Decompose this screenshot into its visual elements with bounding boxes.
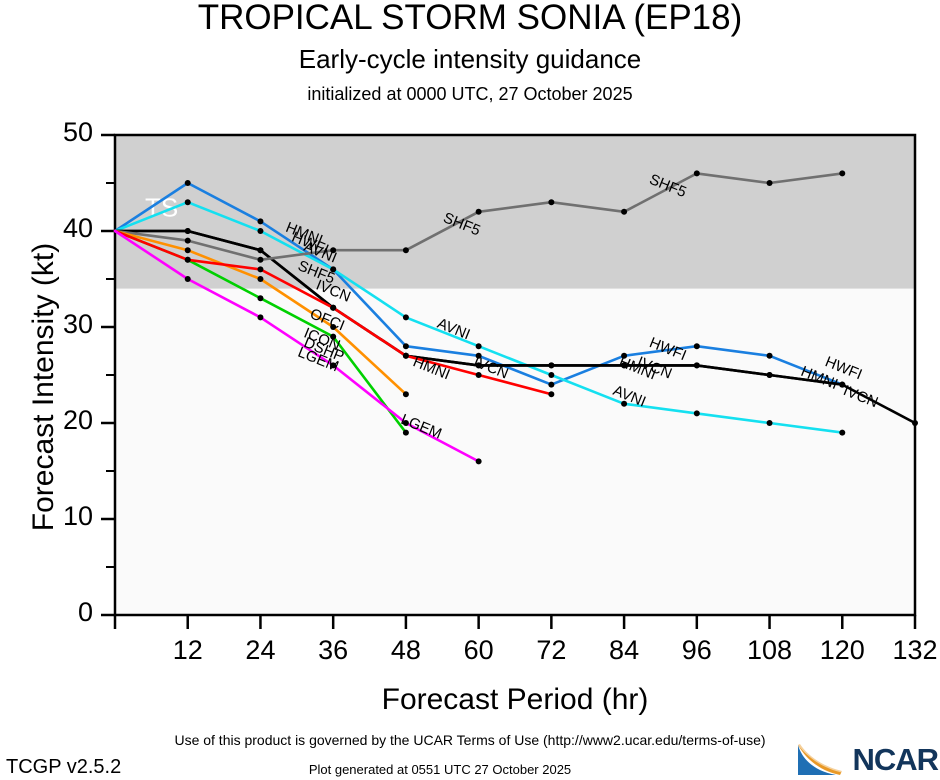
data-point (694, 362, 700, 368)
data-point (330, 305, 336, 311)
data-point (548, 382, 554, 388)
data-point (767, 372, 773, 378)
data-point (839, 430, 845, 436)
data-point (257, 218, 263, 224)
data-point (767, 180, 773, 186)
data-point (548, 372, 554, 378)
data-point (185, 238, 191, 244)
ncar-logo-text: NCAR (852, 744, 938, 775)
data-point (185, 199, 191, 205)
data-point (403, 343, 409, 349)
data-point (257, 247, 263, 253)
data-point (185, 247, 191, 253)
data-point (548, 199, 554, 205)
data-point (694, 170, 700, 176)
data-point (257, 276, 263, 282)
data-point (257, 228, 263, 234)
data-point (767, 420, 773, 426)
data-point (912, 420, 918, 426)
chart-canvas: TSHWFIHWFIHWFIAVNIAVNIAVNIIVCNIVCNIVCNIV… (0, 0, 940, 780)
data-point (257, 314, 263, 320)
data-point (257, 295, 263, 301)
data-point (476, 343, 482, 349)
data-point (185, 180, 191, 186)
data-point (257, 257, 263, 263)
data-point (694, 343, 700, 349)
data-point (403, 391, 409, 397)
data-point (548, 391, 554, 397)
data-point (403, 353, 409, 359)
ncar-swoosh-icon (796, 741, 852, 777)
data-point (839, 170, 845, 176)
plot-generated-text: Plot generated at 0551 UTC 27 October 20… (0, 762, 880, 777)
ncar-logo: NCAR (796, 740, 938, 778)
data-point (403, 247, 409, 253)
data-point (403, 314, 409, 320)
data-point (185, 228, 191, 234)
data-point (476, 458, 482, 464)
data-point (185, 276, 191, 282)
data-point (621, 209, 627, 215)
data-point (185, 257, 191, 263)
intensity-guidance-chart: TSHWFIHWFIHWFIAVNIAVNIAVNIIVCNIVCNIVCNIV… (0, 0, 940, 780)
data-point (257, 266, 263, 272)
data-point (694, 410, 700, 416)
data-point (476, 209, 482, 215)
data-point (548, 362, 554, 368)
data-point (767, 353, 773, 359)
